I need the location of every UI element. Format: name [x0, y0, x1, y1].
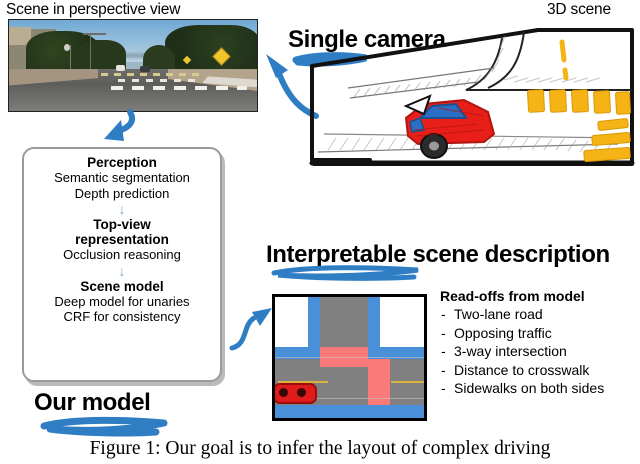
stage-title-scene-model: Scene model: [24, 279, 220, 294]
photo-lane-dashes-far: [118, 79, 202, 82]
stage-line-crf: CRF for consistency: [24, 309, 220, 325]
photo-car-far: [140, 66, 150, 72]
stage-title-perception: Perception: [24, 155, 220, 170]
pipeline-stage-topview: Top-view representation Occlusion reason…: [24, 217, 220, 263]
readoff-item-two-lane-road: Two-lane road: [440, 305, 640, 324]
perspective-view-label: Scene in perspective view: [6, 1, 180, 19]
readoff-item-sidewalks-both-sides: Sidewalks on both sides: [440, 379, 640, 398]
photo-light-arm: [83, 33, 105, 35]
scene-3d-label: 3D scene: [547, 1, 611, 19]
topview-ego-car: [273, 383, 317, 404]
photo-lane-dashes: [111, 86, 248, 90]
stage-line-deep-model: Deep model for unaries: [24, 294, 220, 310]
readoff-item-3-way-intersection: 3-way intersection: [440, 342, 640, 361]
stage-title-topview-line2: representation: [24, 232, 220, 247]
figure-caption: Figure 1: Our goal is to infer the layou…: [0, 438, 640, 460]
our-model-label: Our model: [34, 389, 150, 417]
readoff-item-opposing-traffic: Opposing traffic: [440, 324, 640, 343]
stage-line-depth-prediction: Depth prediction: [24, 186, 220, 202]
arrow-photo-to-pipeline: [80, 108, 140, 150]
readoff-item-distance-to-crosswalk: Distance to crosswalk: [440, 361, 640, 380]
readoffs-list: Two-lane road Opposing traffic 3-way int…: [440, 305, 640, 398]
topview-sidewalk-horiz-bottom: [275, 405, 424, 419]
scene-3d-illustration: [288, 18, 640, 178]
interpretable-underline: [268, 264, 428, 284]
pipeline-stage-scene-model: Scene model Deep model for unaries CRF f…: [24, 279, 220, 325]
topview-scene-map: [272, 294, 427, 421]
pipeline-stage-perception: Perception Semantic segmentation Depth p…: [24, 155, 220, 201]
stage-line-occlusion-reasoning: Occlusion reasoning: [24, 247, 220, 263]
pipeline-arrow-1: ↓: [24, 203, 220, 216]
photo-crosswalk: [101, 73, 200, 76]
readoffs-panel: Read-offs from model Two-lane road Oppos…: [440, 288, 640, 398]
stage-line-semantic-segmentation: Semantic segmentation: [24, 170, 220, 186]
topview-lane-marking-right: [391, 381, 424, 383]
photo-van-far: [116, 65, 125, 71]
photo-sign-round: [64, 44, 70, 51]
perspective-photo: [8, 19, 258, 112]
stage-title-topview-line1: Top-view: [24, 217, 220, 232]
topview-road-edge-top: [275, 357, 424, 358]
readoffs-title: Read-offs from model: [440, 288, 640, 304]
pipeline-arrow-2: ↓: [24, 265, 220, 278]
our-model-pipeline-box: Perception Semantic segmentation Depth p…: [22, 147, 222, 382]
street-photo-image: [9, 20, 257, 111]
our-model-underline: [36, 414, 176, 440]
